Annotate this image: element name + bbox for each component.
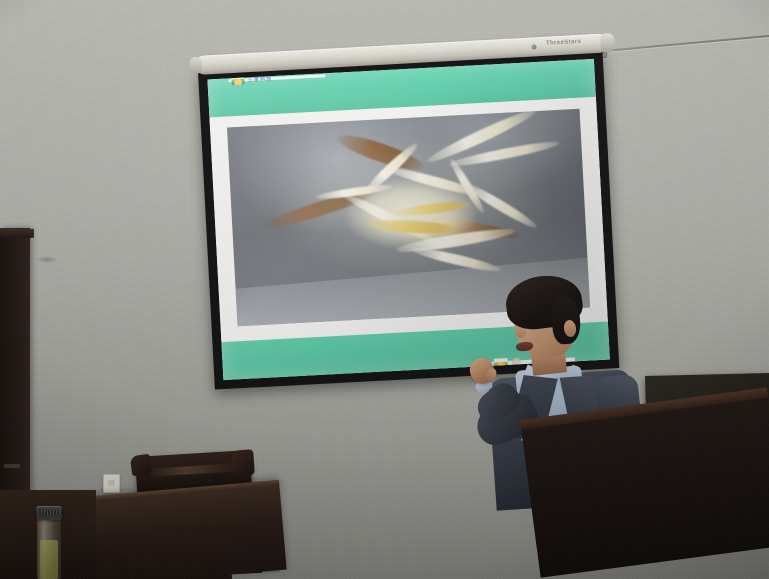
cabinet-top-edge <box>0 228 34 238</box>
wall-scuff-mark <box>36 256 58 263</box>
left-cabinet[interactable] <box>0 228 30 500</box>
cabinet-vent <box>4 464 20 468</box>
sun-mountain-logo-icon <box>232 75 246 86</box>
conference-room-photo: 三星科技 <box>0 0 769 579</box>
podium <box>520 387 769 577</box>
housing-end-cap-right <box>600 33 615 53</box>
podium-front-panel <box>521 397 769 577</box>
brand-logo-icon <box>531 44 536 49</box>
slide-logo-text: 三星科技 <box>248 75 273 83</box>
bottle-liquid <box>40 540 58 579</box>
power-outlet[interactable] <box>103 474 120 493</box>
chair-scroll-left <box>130 454 153 477</box>
housing-end-cap-left <box>190 57 203 75</box>
water-bottle[interactable] <box>37 512 61 579</box>
slide-logo: 三星科技 <box>229 74 326 83</box>
chair-scroll-right <box>231 449 255 476</box>
housing-brand-text: ThreeStars <box>546 39 582 47</box>
bottle-cap[interactable] <box>36 506 62 520</box>
